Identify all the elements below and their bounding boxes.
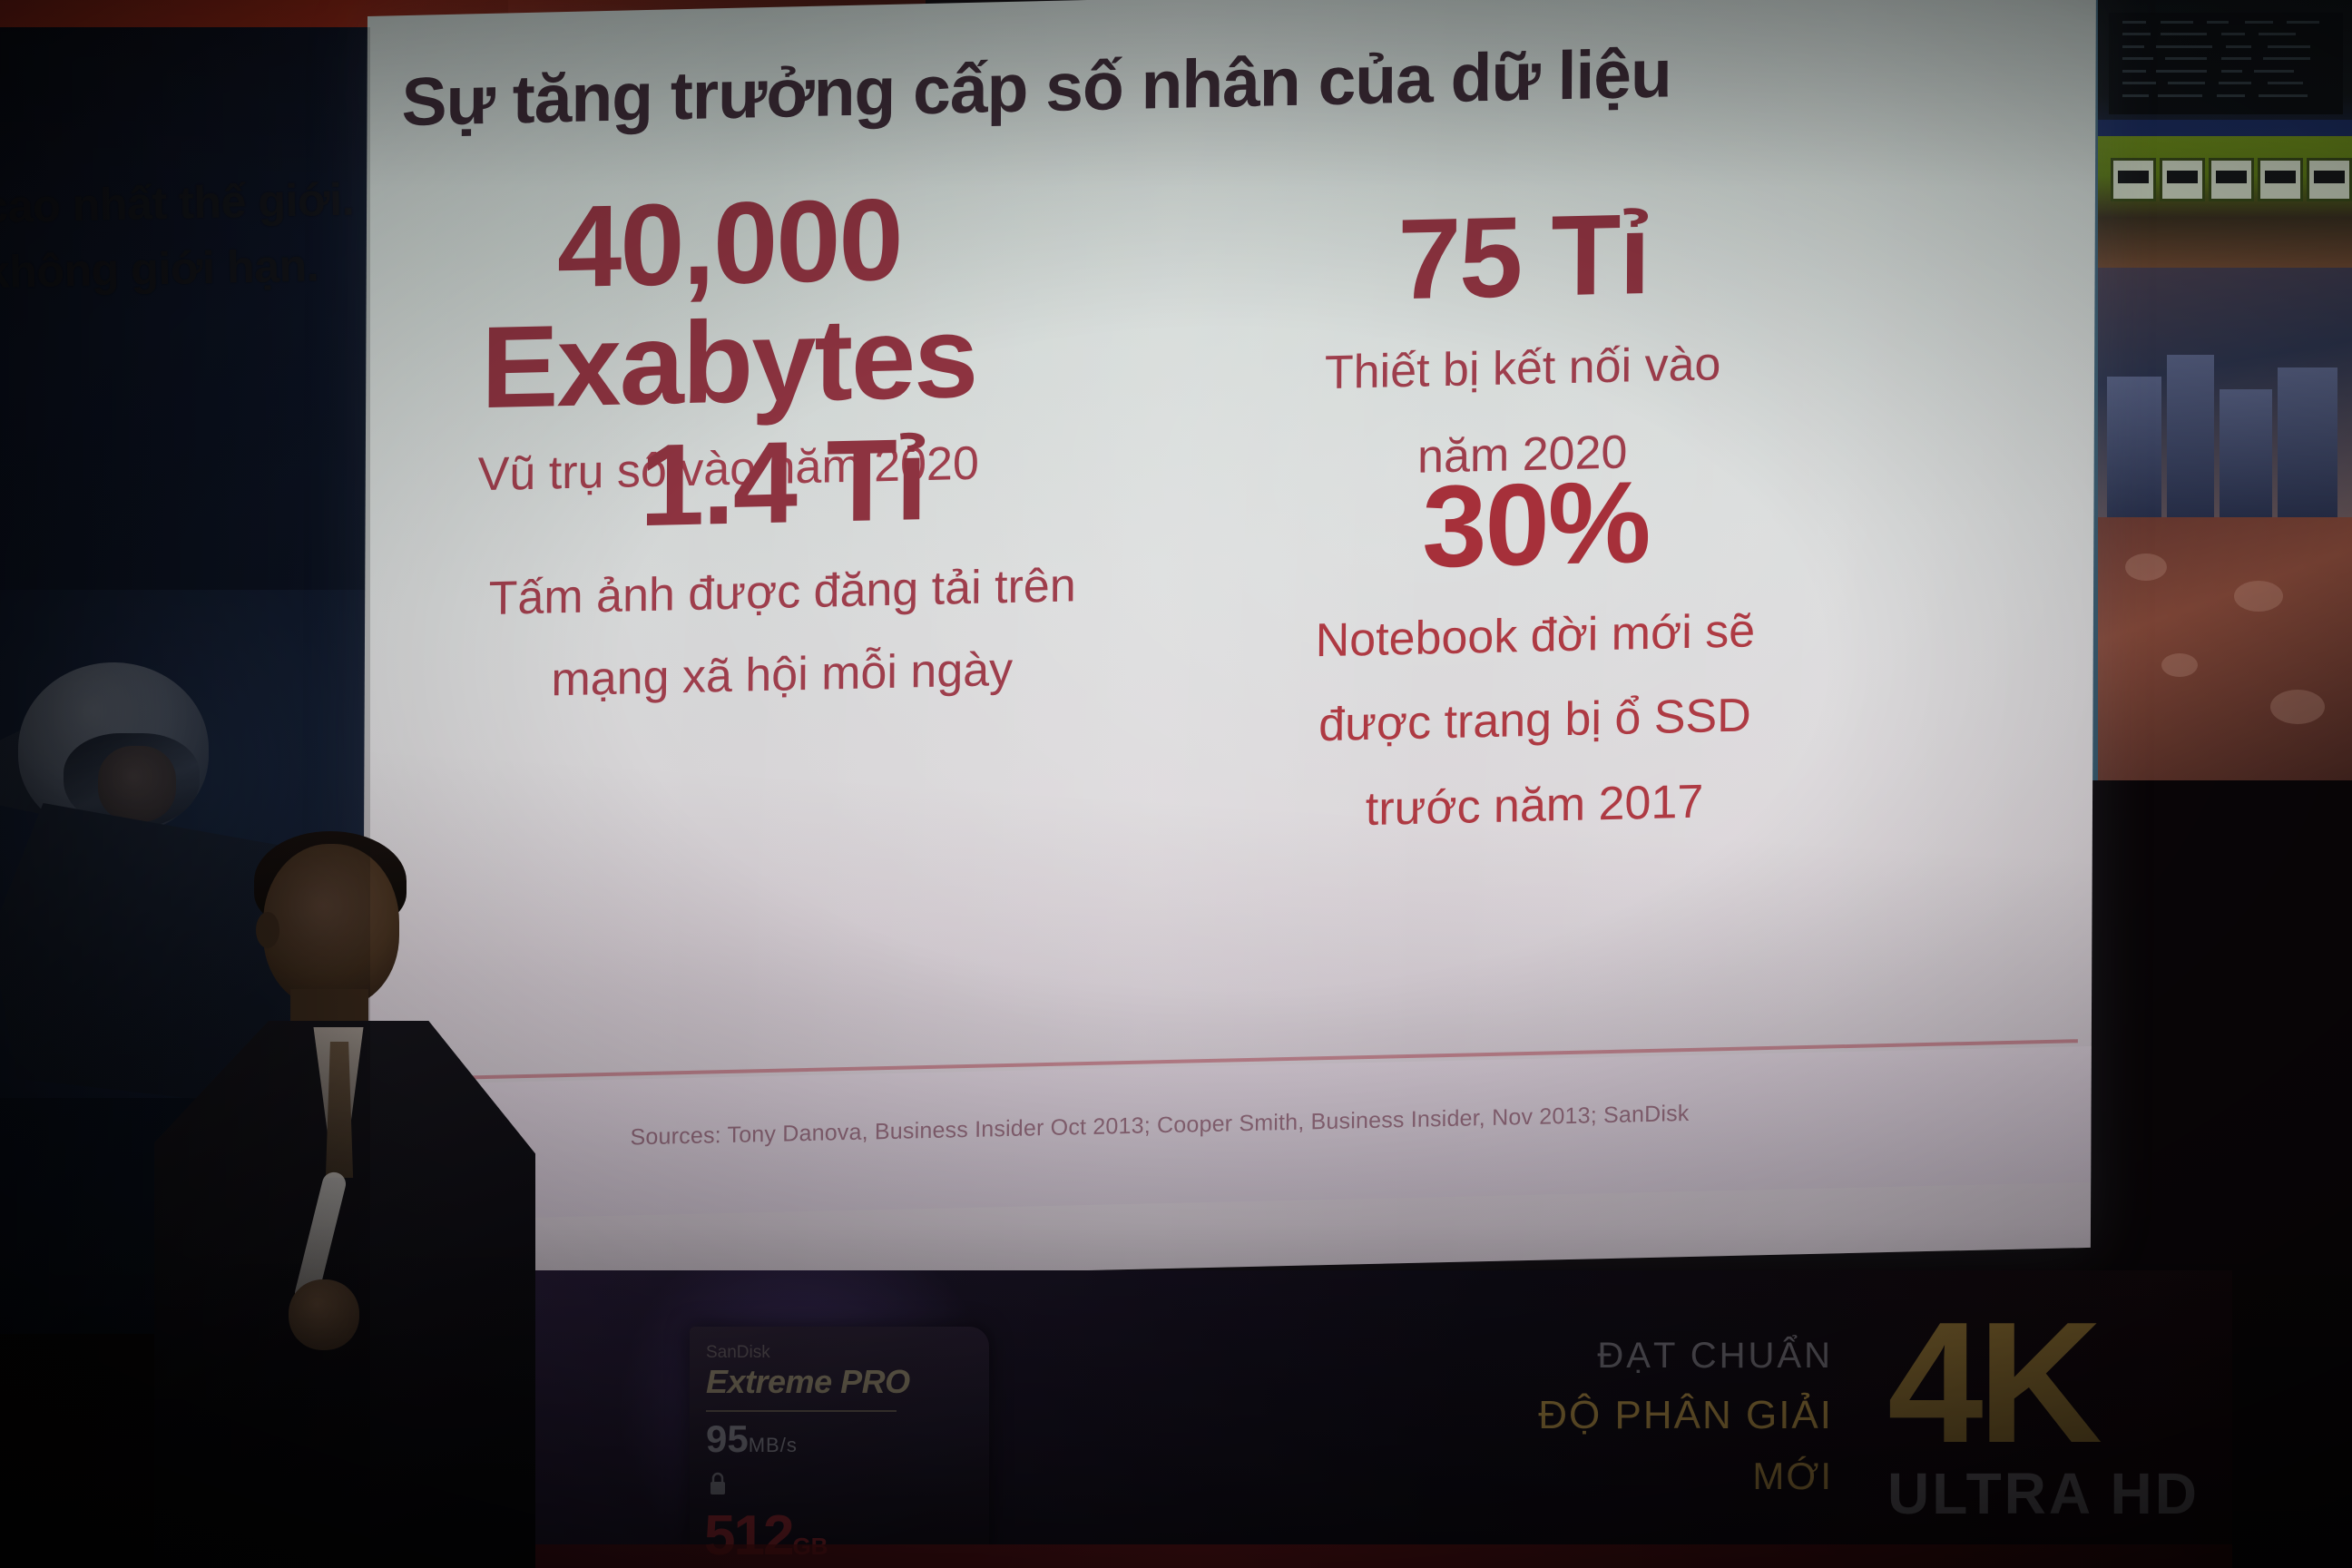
- card-divider: [706, 1410, 897, 1412]
- stat-caption-ssd-line2: được trang bị ổ SSD: [1208, 681, 1861, 762]
- card-speed-value: 95MB/s: [706, 1417, 798, 1461]
- banner-line-dat-chuan: ĐẠT CHUẨN: [1361, 1336, 1833, 1377]
- stat-caption-ssd-line1: Notebook đời mới sẽ: [1209, 595, 1862, 677]
- product-banner: SanDisk Extreme PRO 95MB/s 512GB ĐẠT CHU…: [508, 1270, 2232, 1568]
- presenter-ear: [256, 912, 279, 948]
- card-speed-unit: MB/s: [749, 1434, 798, 1456]
- presenter-head: [263, 844, 399, 1007]
- stat-value-ssd: 30%: [1209, 459, 1863, 593]
- stat-value-photos: 1.4 Tỉ: [446, 416, 1119, 550]
- banner-line-moi: MỚI: [1361, 1455, 1833, 1498]
- stat-block-devices: 75 Tỉ Thiết bị kết nối vào năm 2020: [1210, 191, 1837, 496]
- lock-icon: [708, 1472, 728, 1495]
- stat-caption-photos-line2: mạng xã hội mỗi ngày: [446, 635, 1118, 718]
- stat-caption-devices-line1: Thiết bị kết nối vào: [1210, 328, 1836, 409]
- card-brand-label: SanDisk: [706, 1343, 770, 1363]
- departure-board: [2109, 13, 2343, 114]
- photo-departure-board: [2098, 0, 2352, 136]
- projected-slide: Sự tăng trưởng cấp số nhân của dữ liệu 4…: [362, 0, 2096, 1287]
- card-speed-number: 95: [706, 1417, 749, 1460]
- banner-red-strip: [508, 1544, 2232, 1568]
- board-blue-bar: [2098, 120, 2352, 136]
- badge-4k-label: 4K: [1887, 1301, 2200, 1465]
- stat-value-devices: 75 Tỉ: [1210, 191, 1837, 322]
- photo-kiosks: [2098, 136, 2352, 268]
- stat-caption-photos-line1: Tấm ảnh được đăng tải trên: [446, 552, 1118, 634]
- presenter-silhouette: [145, 826, 544, 1568]
- stat-value-exabytes-line1: 40,000: [416, 178, 1044, 310]
- sandisk-memory-card: SanDisk Extreme PRO 95MB/s 512GB: [690, 1327, 989, 1553]
- slide-title: Sự tăng trưởng cấp số nhân của dữ liệu: [401, 24, 2096, 141]
- screenshot-stage: cao nhất thế giới. không giới hạn.: [0, 0, 2352, 1568]
- banner-vietnamese-lines: ĐẠT CHUẨN ĐỘ PHÂN GIẢI MỚI: [1361, 1336, 1833, 1498]
- skydiver-face: [98, 746, 176, 822]
- badge-ultrahd-label: ULTRA HD: [1887, 1460, 2200, 1527]
- photo-crowd: [2098, 517, 2352, 780]
- photo-cityscape: [2098, 268, 2352, 517]
- right-photo-strip: [2098, 0, 2352, 780]
- presenter-hand: [289, 1279, 359, 1350]
- stat-block-ssd: 30% Notebook đời mới sẽ được trang bị ổ …: [1208, 459, 1863, 848]
- stat-block-photos: 1.4 Tỉ Tấm ảnh được đăng tải trên mạng x…: [446, 416, 1119, 717]
- resolution-badge: 4K ULTRA HD: [1887, 1301, 2200, 1527]
- stat-caption-ssd-line3: trước năm 2017: [1208, 766, 1861, 848]
- card-family-label: Extreme PRO: [706, 1363, 910, 1401]
- stat-value-exabytes-line2: Exabytes: [416, 297, 1043, 429]
- banner-line-do-phan-giai: ĐỘ PHÂN GIẢI: [1361, 1393, 1833, 1438]
